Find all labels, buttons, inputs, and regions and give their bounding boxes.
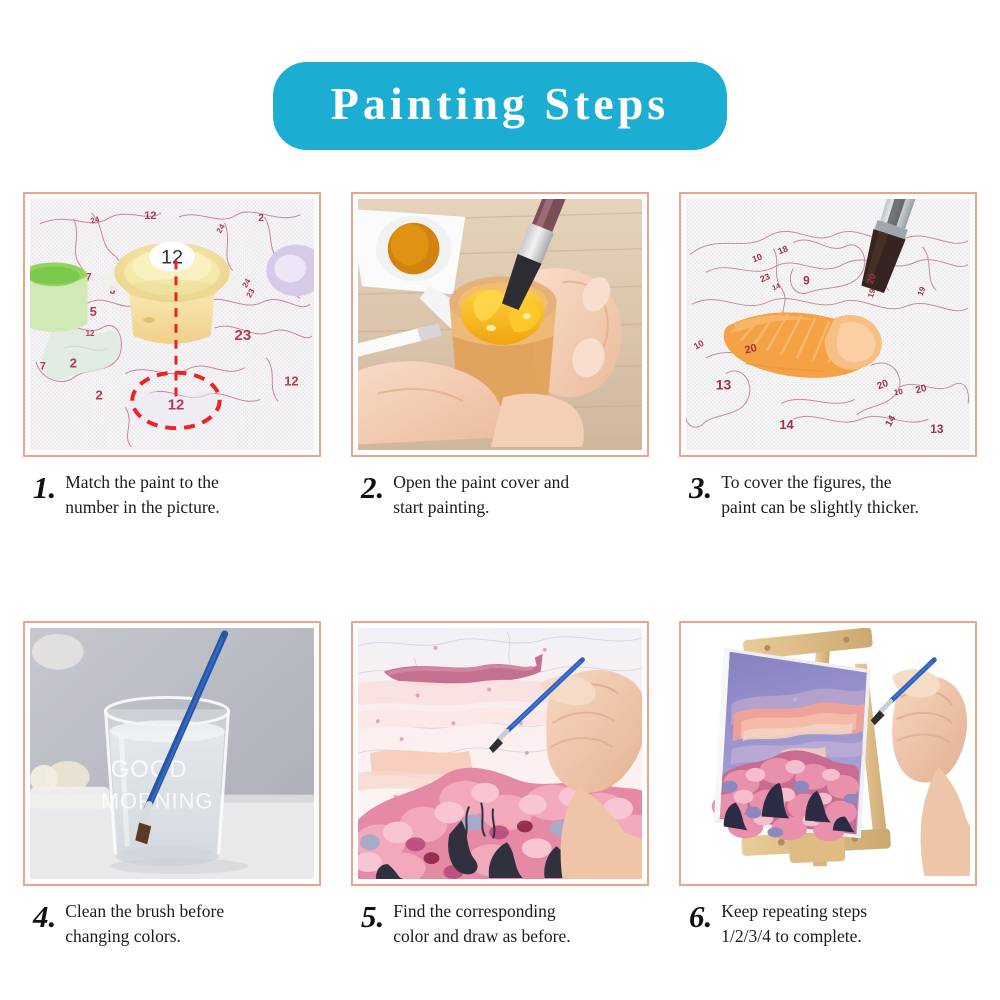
painting-steps-infographic: Painting Steps — [0, 0, 1000, 1000]
step-text-line1: Find the corresponding — [393, 901, 555, 921]
title-banner: Painting Steps — [273, 62, 727, 150]
step-card-1: 12 24 2 24 7 6 5 12 24 23 23 7 2 — [23, 192, 321, 520]
svg-text:9: 9 — [803, 273, 810, 287]
step-image-frame-3: 10 18 23 14 9 20 19 19 10 20 13 20 — [679, 192, 977, 457]
page-title: Painting Steps — [331, 80, 669, 128]
step-photo-4: GOOD MORNING — [30, 628, 314, 879]
step-text-line2: 1/2/3/4 to complete. — [721, 924, 867, 949]
step-caption-3: 3. To cover the figures, the paint can b… — [679, 470, 977, 520]
step-text-1: Match the paint to the number in the pic… — [65, 470, 220, 520]
step-text-line2: changing colors. — [65, 924, 224, 949]
step-text-line1: Open the paint cover and — [393, 472, 569, 492]
svg-text:7: 7 — [40, 361, 46, 373]
step-text-5: Find the corresponding color and draw as… — [393, 899, 570, 949]
step-number-3: 3. — [689, 472, 712, 503]
step-photo-3: 10 18 23 14 9 20 19 19 10 20 13 20 — [686, 199, 970, 450]
step-number-2: 2. — [361, 472, 384, 503]
brush-stroke-on-numbered-canvas-illustration: 10 18 23 14 9 20 19 19 10 20 13 20 — [686, 199, 970, 450]
pot-label: 12 — [161, 246, 183, 268]
step-text-3: To cover the figures, the paint can be s… — [721, 470, 919, 520]
svg-text:13: 13 — [930, 422, 944, 436]
step-text-4: Clean the brush before changing colors. — [65, 899, 224, 949]
finished-canvas — [712, 648, 871, 841]
step-card-3: 10 18 23 14 9 20 19 19 10 20 13 20 — [679, 192, 977, 520]
step-text-line2: paint can be slightly thicker. — [721, 495, 919, 520]
step-text-2: Open the paint cover and start painting. — [393, 470, 569, 520]
svg-text:2: 2 — [70, 356, 77, 371]
svg-text:2: 2 — [258, 213, 264, 224]
svg-text:12: 12 — [144, 210, 156, 222]
callout-number: 12 — [168, 397, 185, 413]
svg-text:5: 5 — [90, 304, 97, 319]
svg-text:12: 12 — [86, 329, 95, 338]
svg-text:12: 12 — [284, 374, 298, 389]
step-text-line1: Clean the brush before — [65, 901, 224, 921]
step-caption-1: 1. Match the paint to the number in the … — [23, 470, 321, 520]
svg-text:2: 2 — [96, 387, 103, 402]
step-caption-6: 6. Keep repeating steps 1/2/3/4 to compl… — [679, 899, 977, 949]
step-text-line1: Keep repeating steps — [721, 901, 867, 921]
step-card-6: 6. Keep repeating steps 1/2/3/4 to compl… — [679, 621, 977, 949]
step-photo-6 — [686, 628, 970, 879]
step-number-6: 6. — [689, 901, 712, 932]
svg-text:13: 13 — [716, 376, 732, 392]
water-glass: GOOD MORNING — [101, 697, 229, 866]
step-number-1: 1. — [33, 472, 56, 503]
step-text-line2: number in the picture. — [65, 495, 220, 520]
svg-text:14: 14 — [779, 417, 794, 432]
finished-painting-on-easel-illustration — [686, 628, 970, 879]
step-image-frame-6 — [679, 621, 977, 886]
step-text-line2: start painting. — [393, 495, 569, 520]
step-photo-5 — [358, 628, 642, 879]
step-image-frame-5 — [351, 621, 649, 886]
title-banner-container: Painting Steps — [0, 62, 1000, 150]
step-caption-5: 5. Find the corresponding color and draw… — [351, 899, 649, 949]
step-image-frame-1: 12 24 2 24 7 6 5 12 24 23 23 7 2 — [23, 192, 321, 457]
step-text-6: Keep repeating steps 1/2/3/4 to complete… — [721, 899, 867, 949]
open-paint-pot-with-brush-illustration — [358, 199, 642, 450]
step-number-4: 4. — [33, 901, 56, 932]
step-caption-2: 2. Open the paint cover and start painti… — [351, 470, 649, 520]
step-photo-2 — [358, 199, 642, 450]
step-photo-1: 12 24 2 24 7 6 5 12 24 23 23 7 2 — [30, 199, 314, 450]
paint-pot-on-numbered-canvas-illustration: 12 24 2 24 7 6 5 12 24 23 23 7 2 — [30, 199, 314, 450]
step-image-frame-2 — [351, 192, 649, 457]
step-image-frame-4: GOOD MORNING — [23, 621, 321, 886]
step-caption-4: 4. Clean the brush before changing color… — [23, 899, 321, 949]
svg-text:23: 23 — [235, 328, 252, 344]
steps-grid: 12 24 2 24 7 6 5 12 24 23 23 7 2 — [23, 192, 977, 948]
step-card-4: GOOD MORNING 4. — [23, 621, 321, 949]
brush-rinsing-in-water-glass-illustration: GOOD MORNING — [30, 628, 314, 879]
step-number-5: 5. — [361, 901, 384, 932]
glass-text-line1: GOOD — [111, 756, 188, 783]
step-text-line1: Match the paint to the — [65, 472, 219, 492]
step-text-line1: To cover the figures, the — [721, 472, 891, 492]
step-text-line2: color and draw as before. — [393, 924, 570, 949]
step-card-2: 2. Open the paint cover and start painti… — [351, 192, 649, 520]
hand-painting-cherry-blossom-canvas-illustration — [358, 628, 642, 879]
step-card-5: 5. Find the corresponding color and draw… — [351, 621, 649, 949]
